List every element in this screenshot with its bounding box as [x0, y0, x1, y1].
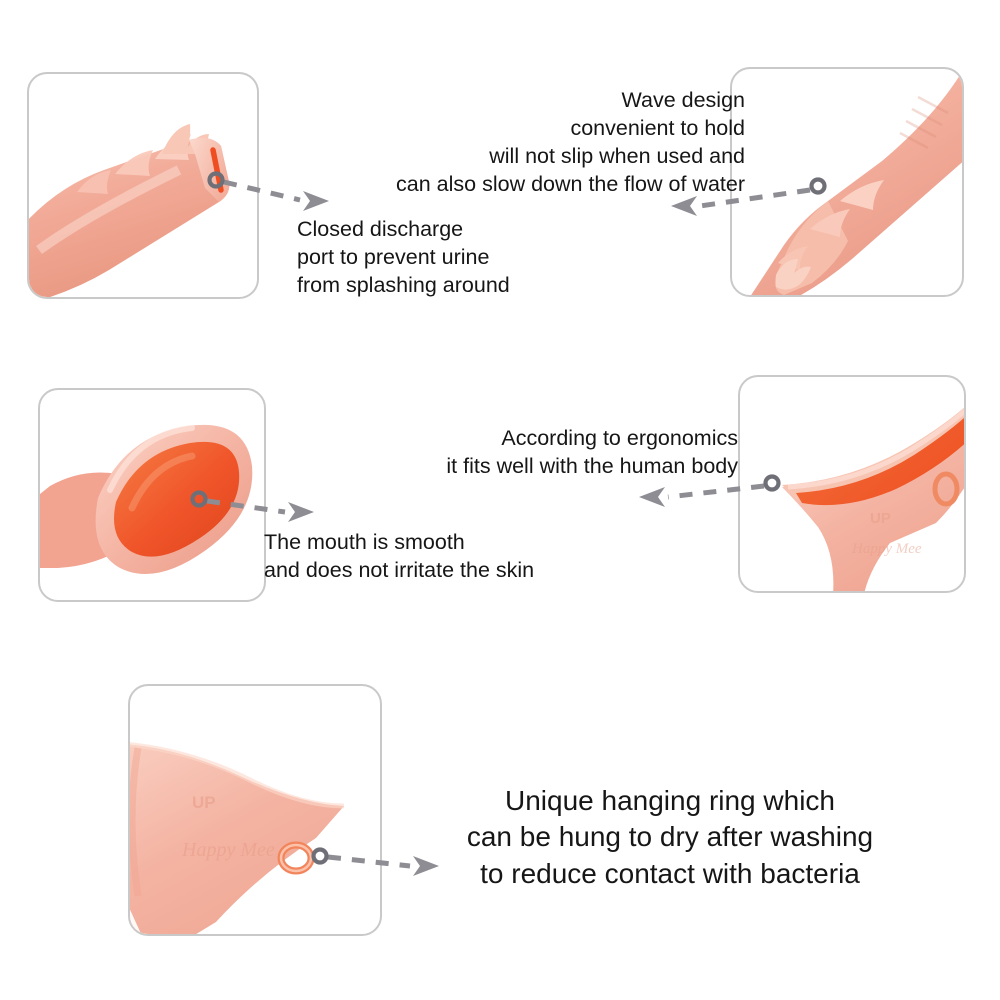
emboss-up-label-bottom: UP [192, 793, 216, 812]
infographic-canvas: UP Happy Mee [0, 0, 1000, 1000]
product-photo-ergonomic-fit: UP Happy Mee [740, 377, 964, 591]
product-photo-wave-design [732, 69, 962, 295]
callout-closed-discharge-port: Closed discharge port to prevent urine f… [297, 216, 510, 300]
panel-smooth-mouth [38, 388, 266, 602]
callout-smooth-mouth: The mouth is smooth and does not irritat… [264, 529, 534, 585]
panel-closed-discharge-port [27, 72, 259, 299]
callout-arrow-head [288, 502, 314, 522]
callout-hanging-ring: Unique hanging ring which can be hung to… [440, 783, 900, 892]
callout-arrow-head [639, 487, 665, 507]
panel-ergonomic-fit: UP Happy Mee [738, 375, 966, 593]
emboss-up-label: UP [870, 510, 891, 527]
callout-ergonomics: According to ergonomics it fits well wit… [328, 425, 738, 481]
panel-hanging-ring: UP Happy Mee [128, 684, 382, 936]
callout-arrow-head [413, 856, 439, 876]
callout-wave-design: Wave design convenient to hold will not … [275, 87, 745, 199]
emboss-brand-label-bottom: Happy Mee [181, 839, 275, 861]
product-photo-smooth-mouth [40, 390, 264, 600]
panel-wave-design [730, 67, 964, 297]
emboss-brand-label: Happy Mee [851, 541, 922, 557]
callout-arrow-head [671, 196, 697, 216]
product-photo-discharge-port [29, 74, 257, 297]
product-photo-hanging-ring: UP Happy Mee [130, 686, 380, 934]
